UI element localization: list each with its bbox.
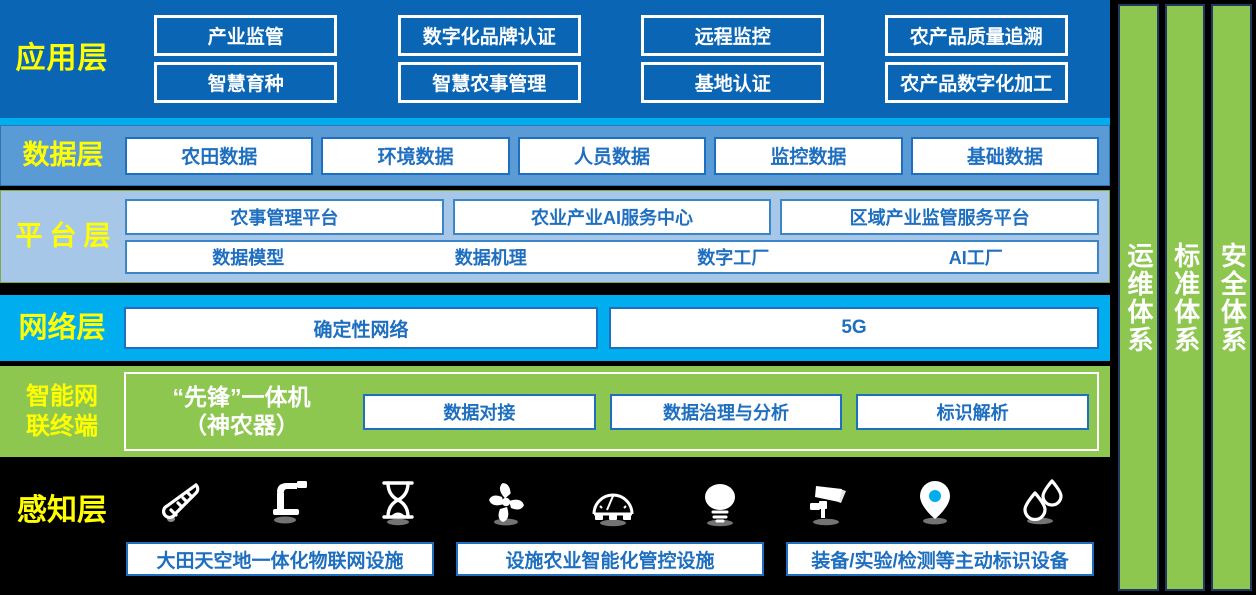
layer-data-label: 数据层 [1, 126, 125, 185]
application-cell: 智慧育种 [124, 62, 368, 103]
application-cell: 农产品质量追溯 [855, 15, 1099, 56]
layer-network-label: 网络层 [0, 295, 124, 361]
perception-icon-strip [130, 466, 1096, 538]
app-box-base-certification[interactable]: 基地认证 [641, 62, 824, 103]
gauge-icon [584, 473, 642, 531]
support-pillars: 运维体系 标准体系 安全体系 [1118, 4, 1252, 591]
network-box-5g[interactable]: 5G [609, 307, 1099, 349]
application-cell: 基地认证 [611, 62, 855, 103]
app-box-digital-brand-certification[interactable]: 数字化品牌认证 [398, 15, 581, 56]
data-row: 农田数据 环境数据 人员数据 监控数据 基础数据 [125, 137, 1099, 175]
layer-terminal: 智能网 联终端 “先锋”一体机 （神农器） 数据对接 数据治理与分析 标识解析 [0, 366, 1110, 457]
location-pin-icon [906, 473, 964, 531]
data-box-farmland-data[interactable]: 农田数据 [125, 137, 313, 175]
terminal-inner-frame: “先锋”一体机 （神农器） 数据对接 数据治理与分析 标识解析 [124, 372, 1099, 451]
layer-application-body: 产业监管 数字化品牌认证 远程监控 农产品质量追溯 智慧育种 智慧农事管理 基地… [124, 0, 1110, 118]
platform-capability-bar: 数据模型 数据机理 数字工厂 AI工厂 [125, 240, 1099, 274]
perception-box-active-identification-equipment[interactable]: 装备/实验/检测等主动标识设备 [786, 542, 1094, 576]
data-box-personnel-data[interactable]: 人员数据 [518, 137, 706, 175]
terminal-box-identifier-resolution[interactable]: 标识解析 [856, 394, 1089, 430]
faucet-icon [262, 473, 320, 531]
pillar-operations-system[interactable]: 运维体系 [1118, 4, 1159, 591]
layer-terminal-label: 智能网 联终端 [0, 366, 124, 457]
network-box-deterministic-network[interactable]: 确定性网络 [124, 307, 598, 349]
pillar-label: 安全体系 [1218, 242, 1245, 354]
platform-item-data-mechanism[interactable]: 数据机理 [370, 244, 613, 270]
app-box-smart-breeding[interactable]: 智慧育种 [154, 62, 337, 103]
app-box-product-digital-processing[interactable]: 农产品数字化加工 [885, 62, 1068, 103]
application-cell: 农产品数字化加工 [855, 62, 1099, 103]
app-box-industry-supervision[interactable]: 产业监管 [154, 15, 337, 56]
layer-data: 数据层 农田数据 环境数据 人员数据 监控数据 基础数据 [0, 125, 1110, 186]
layer-application-label: 应用层 [0, 0, 124, 118]
data-box-monitoring-data[interactable]: 监控数据 [714, 137, 902, 175]
terminal-box-data-governance-analysis[interactable]: 数据治理与分析 [610, 394, 843, 430]
platform-item-ai-factory[interactable]: AI工厂 [855, 244, 1098, 270]
platform-row-2: 数据模型 数据机理 数字工厂 AI工厂 [125, 240, 1099, 274]
platform-item-digital-factory[interactable]: 数字工厂 [612, 244, 855, 270]
perception-box-field-iot-facilities[interactable]: 大田天空地一体化物联网设施 [126, 542, 434, 576]
application-row-2: 智慧育种 智慧农事管理 基地认证 农产品数字化加工 [124, 62, 1098, 103]
platform-box-regional-supervision[interactable]: 区域产业监管服务平台 [780, 199, 1099, 235]
app-box-remote-monitoring[interactable]: 远程监控 [641, 15, 824, 56]
layer-platform-body: 农事管理平台 农业产业AI服务中心 区域产业监管服务平台 数据模型 数据机理 数… [125, 191, 1109, 282]
perception-box-facility-agriculture-control[interactable]: 设施农业智能化管控设施 [456, 542, 764, 576]
architecture-diagram: 应用层 产业监管 数字化品牌认证 远程监控 农产品质量追溯 智慧育种 智慧农事管… [0, 0, 1256, 595]
application-cell: 远程监控 [611, 15, 855, 56]
pillar-security-system[interactable]: 安全体系 [1211, 4, 1252, 591]
terminal-box-data-integration[interactable]: 数据对接 [363, 394, 596, 430]
data-box-environment-data[interactable]: 环境数据 [321, 137, 509, 175]
layer-data-body: 农田数据 环境数据 人员数据 监控数据 基础数据 [125, 126, 1109, 185]
terminal-device-title: “先锋”一体机 （神农器） [134, 384, 349, 438]
water-drop-icon [1013, 473, 1071, 531]
layer-perception-label: 感知层 [0, 472, 124, 542]
hourglass-icon [369, 473, 427, 531]
network-row: 确定性网络 5G [124, 307, 1099, 349]
layer-platform-label: 平台层 [1, 191, 125, 282]
lightbulb-icon [691, 473, 749, 531]
application-cell: 数字化品牌认证 [368, 15, 612, 56]
application-cell: 产业监管 [124, 15, 368, 56]
pillar-label: 运维体系 [1125, 242, 1152, 354]
application-cell: 智慧农事管理 [368, 62, 612, 103]
platform-item-data-model[interactable]: 数据模型 [127, 244, 370, 270]
app-box-product-quality-traceability[interactable]: 农产品质量追溯 [885, 15, 1068, 56]
layer-network-body: 确定性网络 5G [124, 295, 1110, 361]
app-box-smart-farming-management[interactable]: 智慧农事管理 [398, 62, 581, 103]
layer-network: 网络层 确定性网络 5G [0, 295, 1110, 361]
platform-box-ai-service-center[interactable]: 农业产业AI服务中心 [453, 199, 772, 235]
fan-icon [477, 473, 535, 531]
layer-application: 应用层 产业监管 数字化品牌认证 远程监控 农产品质量追溯 智慧育种 智慧农事管… [0, 0, 1110, 118]
thermometer-icon [155, 473, 213, 531]
platform-row-1: 农事管理平台 农业产业AI服务中心 区域产业监管服务平台 [125, 199, 1099, 235]
pillar-standards-system[interactable]: 标准体系 [1165, 4, 1206, 591]
camera-icon [799, 473, 857, 531]
platform-box-farming-management[interactable]: 农事管理平台 [125, 199, 444, 235]
layer-platform: 平台层 农事管理平台 农业产业AI服务中心 区域产业监管服务平台 数据模型 数据… [0, 190, 1110, 283]
pillar-label: 标准体系 [1171, 242, 1198, 354]
perception-box-row: 大田天空地一体化物联网设施 设施农业智能化管控设施 装备/实验/检测等主动标识设… [126, 542, 1094, 576]
data-box-basic-data[interactable]: 基础数据 [911, 137, 1099, 175]
layer-terminal-body: “先锋”一体机 （神农器） 数据对接 数据治理与分析 标识解析 [124, 366, 1110, 457]
application-row-1: 产业监管 数字化品牌认证 远程监控 农产品质量追溯 [124, 15, 1098, 56]
